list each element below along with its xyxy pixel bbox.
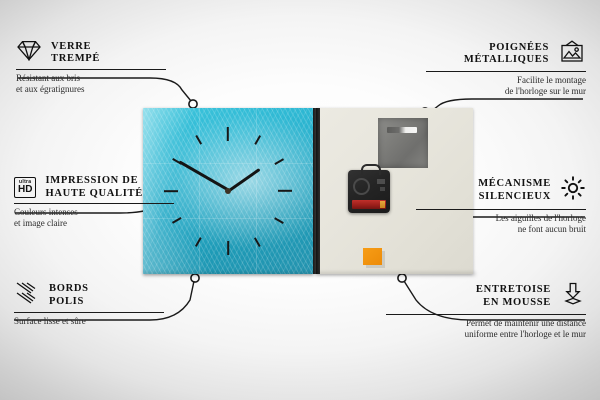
mechanism-dial: [353, 178, 370, 195]
clock-hub: [225, 188, 231, 194]
callout-rule: [14, 312, 164, 313]
clock-mechanism: [348, 170, 390, 213]
callout-desc: Facilite le montage: [426, 75, 586, 86]
callout-impression-haute-qualite: ultra HD IMPRESSION DE HAUTE QUALITÉ Cou…: [14, 175, 174, 229]
picture-frame-hanger-icon: [558, 40, 586, 68]
callout-title-2: SILENCIEUX: [478, 191, 551, 204]
callout-title: ENTRETOISE: [476, 284, 551, 297]
clock-tick: [254, 135, 260, 144]
callout-rule: [426, 71, 586, 72]
connector-dot-verre-trempe: [189, 100, 197, 108]
hanger-slot: [387, 127, 417, 133]
callout-desc-2: ne font aucun bruit: [416, 224, 586, 235]
clock-tick: [274, 158, 283, 164]
clock-tick: [254, 237, 260, 246]
callout-title-2: HAUTE QUALITÉ: [45, 188, 143, 201]
callout-desc: Permet de maintenir une distance: [386, 318, 586, 329]
callout-title-2: EN MOUSSE: [476, 297, 551, 310]
callout-bords-polis: BORDS POLIS Surface lisse et sûre: [14, 282, 164, 327]
metal-hanger-plate: [378, 118, 428, 168]
minute-hand: [178, 160, 228, 191]
callout-desc-2: et image claire: [14, 218, 174, 229]
polished-edges-icon: [14, 282, 40, 309]
clock-tick: [195, 135, 201, 144]
foam-spacer: [363, 248, 382, 265]
callout-rule: [416, 209, 586, 210]
infographic-canvas: VERRE TREMPÉ Résistant aux bris et aux é…: [0, 0, 600, 400]
callout-rule: [16, 69, 166, 70]
clock-tick: [278, 190, 292, 192]
callout-title-2: MÉTALLIQUES: [464, 54, 549, 67]
callout-desc-2: uniforme entre l'horloge et le mur: [386, 329, 586, 340]
callout-title-2: TREMPÉ: [51, 53, 100, 66]
callout-title: VERRE: [51, 41, 100, 54]
battery-terminal: [380, 201, 385, 208]
callout-title: MÉCANISME: [478, 178, 551, 191]
callout-desc-2: et aux égratignures: [16, 84, 166, 95]
clock-tick: [274, 217, 283, 223]
mechanism-hook: [361, 164, 381, 175]
callout-poignees-metalliques: POIGNÉES MÉTALLIQUES Facilite le montage…: [426, 40, 586, 97]
callout-desc: Surface lisse et sûre: [14, 316, 164, 327]
clock-tick: [227, 127, 229, 141]
callout-desc: Résistant aux bris: [16, 73, 166, 84]
foam-spacer-icon: [560, 282, 586, 311]
callout-rule: [386, 314, 586, 315]
battery: [352, 200, 386, 209]
gear-icon: [560, 175, 586, 206]
callout-mecanisme-silencieux: MÉCANISME SILENCIEUX Les aiguilles de l'…: [416, 175, 586, 235]
diamond-icon: [16, 40, 42, 66]
mechanism-chip: [377, 179, 385, 184]
ultra-hd-large-label: HD: [18, 185, 32, 195]
callout-rule: [14, 203, 174, 204]
callout-desc: Les aiguilles de l'horloge: [416, 213, 586, 224]
callout-verre-trempe: VERRE TREMPÉ Résistant aux bris et aux é…: [16, 40, 166, 95]
callout-title-2: POLIS: [49, 296, 89, 309]
callout-title: BORDS: [49, 283, 89, 296]
ultra-hd-icon: ultra HD: [14, 177, 36, 198]
callout-entretoise-en-mousse: ENTRETOISE EN MOUSSE Permet de maintenir…: [386, 282, 586, 340]
clock-tick: [227, 241, 229, 255]
hour-hand: [226, 168, 261, 194]
callout-desc: Couleurs intenses: [14, 207, 174, 218]
callout-title: IMPRESSION DE: [45, 175, 143, 188]
mechanism-chip-small: [380, 187, 385, 191]
callout-desc-2: de l'horloge sur le mur: [426, 86, 586, 97]
clock-tick: [195, 237, 201, 246]
callout-title: POIGNÉES: [464, 42, 549, 55]
